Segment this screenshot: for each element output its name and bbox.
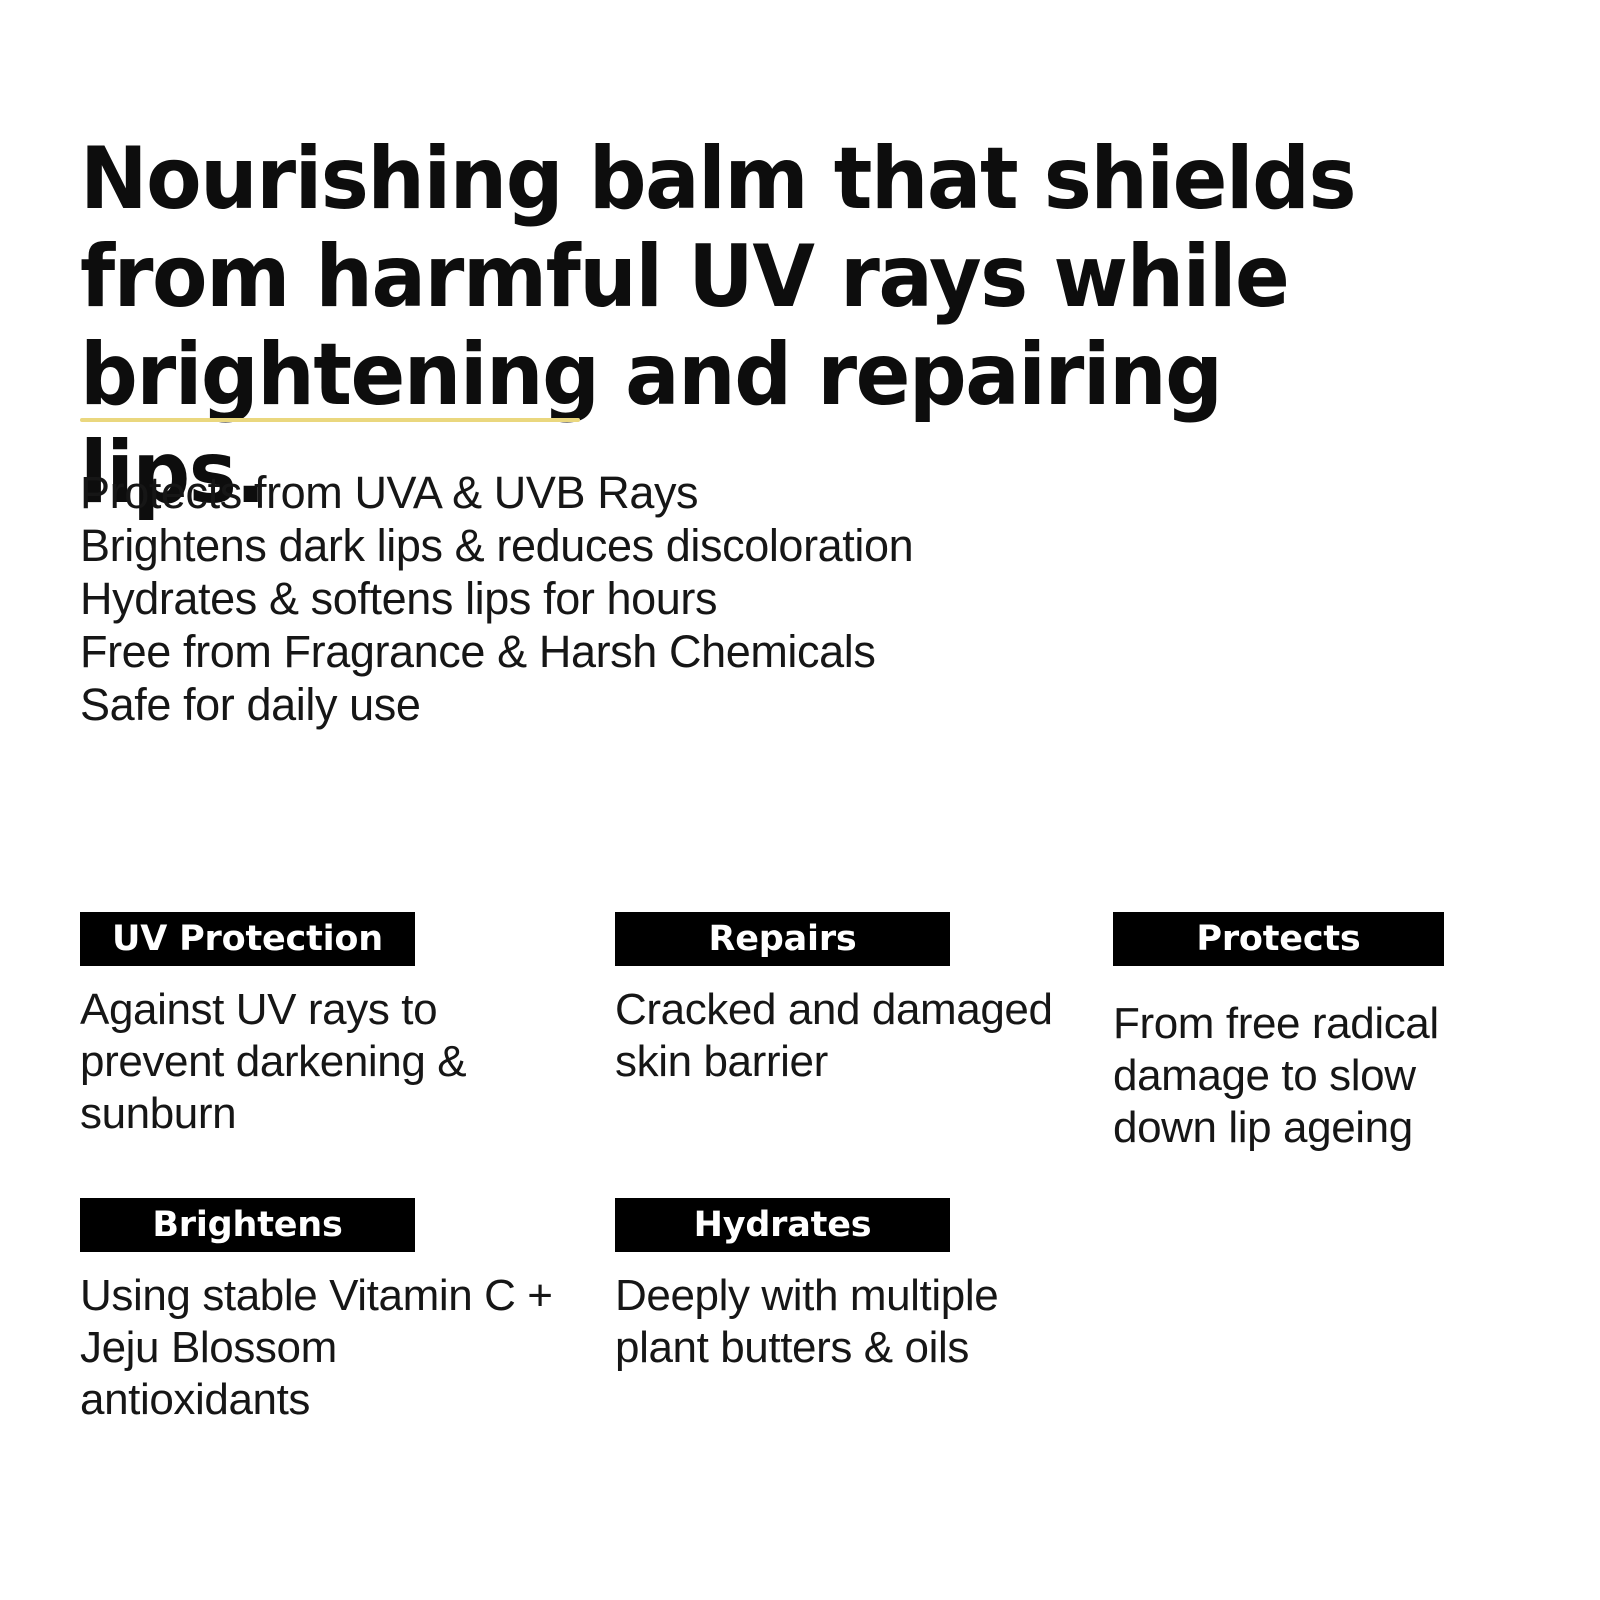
feature-row: Brightens Using stable Vitamin C + Jeju …	[80, 1198, 1520, 1470]
feature-card-protects: Protects From free radical damage to slo…	[1113, 912, 1520, 1198]
feature-card-repairs: Repairs Cracked and damaged skin barrier	[615, 912, 1113, 1132]
feature-card-uv-protection: UV Protection Against UV rays to prevent…	[80, 912, 615, 1184]
feature-description: Against UV rays to prevent darkening & s…	[80, 984, 575, 1140]
feature-description: Deeply with multiple plant butters & oil…	[615, 1270, 1073, 1374]
feature-description: From free radical damage to slow down li…	[1113, 998, 1520, 1154]
list-item: Protects from UVA & UVB Rays	[80, 466, 1140, 519]
page-title: Nourishing balm that shields from harmfu…	[80, 130, 1415, 522]
status-badge: UV Protection	[80, 912, 415, 966]
benefits-list: Protects from UVA & UVB Rays Brightens d…	[80, 466, 1140, 731]
feature-description: Cracked and damaged skin barrier	[615, 984, 1073, 1088]
feature-card-brightens: Brightens Using stable Vitamin C + Jeju …	[80, 1198, 615, 1470]
feature-grid: UV Protection Against UV rays to prevent…	[80, 912, 1520, 1470]
status-badge: Brightens	[80, 1198, 415, 1252]
status-badge: Hydrates	[615, 1198, 950, 1252]
infographic-page: Nourishing balm that shields from harmfu…	[0, 0, 1600, 1600]
feature-description: Using stable Vitamin C + Jeju Blossom an…	[80, 1270, 575, 1426]
feature-card-hydrates: Hydrates Deeply with multiple plant butt…	[615, 1198, 1113, 1418]
status-badge: Protects	[1113, 912, 1444, 966]
status-badge: Repairs	[615, 912, 950, 966]
list-item: Hydrates & softens lips for hours	[80, 572, 1140, 625]
list-item: Free from Fragrance & Harsh Chemicals	[80, 625, 1140, 678]
list-item: Safe for daily use	[80, 678, 1140, 731]
list-item: Brightens dark lips & reduces discolorat…	[80, 519, 1140, 572]
feature-row: UV Protection Against UV rays to prevent…	[80, 912, 1520, 1198]
gold-divider	[80, 418, 580, 422]
